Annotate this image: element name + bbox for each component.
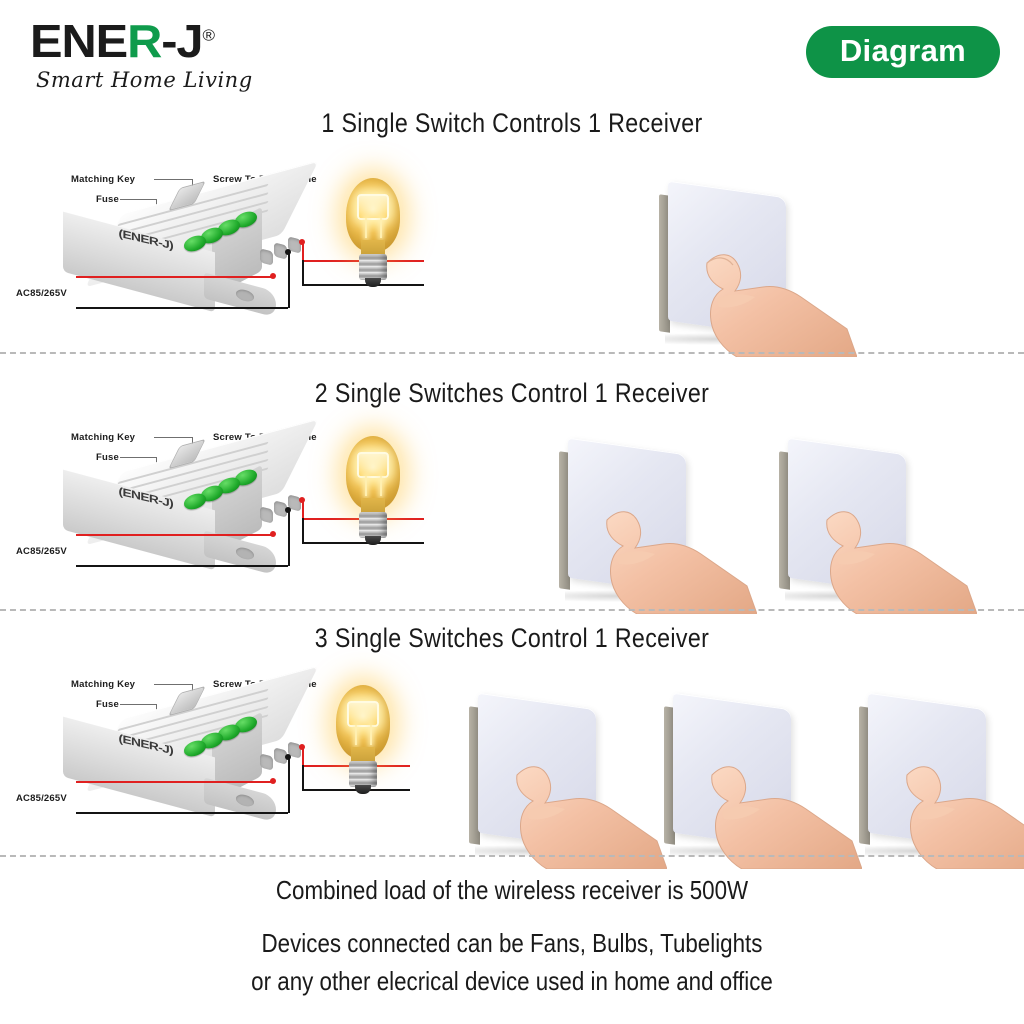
logo-tagline: Smart Home Living bbox=[36, 68, 280, 92]
bulb-filament bbox=[357, 194, 389, 220]
pressing-hand-icon bbox=[702, 749, 862, 869]
pressing-hand-icon bbox=[507, 749, 667, 869]
divider-1 bbox=[0, 352, 1024, 354]
wall-switch-3b[interactable] bbox=[650, 697, 850, 872]
brand-logo: ENER-J® Smart Home Living bbox=[30, 18, 280, 92]
fuse-label-1: Fuse bbox=[96, 194, 119, 205]
section-1-title: 1 Single Switch Controls 1 Receiver bbox=[72, 108, 953, 139]
section-2-title: 2 Single Switches Control 1 Receiver bbox=[72, 378, 953, 409]
diagram-badge: Diagram bbox=[806, 26, 1000, 78]
diagram-page: ENER-J® Smart Home Living Diagram 1 Sing… bbox=[0, 0, 1024, 1024]
divider-3 bbox=[0, 855, 1024, 857]
section-3-title: 3 Single Switches Control 1 Receiver bbox=[72, 623, 953, 654]
footer-devices-line-2: or any other elecrical device used in ho… bbox=[72, 966, 953, 997]
logo-wordmark: ENER-J® bbox=[30, 18, 295, 64]
matching-key-label-1: Matching Key bbox=[71, 174, 135, 185]
light-bulb-3 bbox=[330, 685, 396, 797]
pressing-hand-icon bbox=[697, 237, 857, 357]
pressing-hand-icon bbox=[897, 749, 1024, 869]
light-bulb-1 bbox=[340, 178, 406, 290]
voltage-label-3: AC85/265V bbox=[16, 793, 67, 804]
matching-key-label-3: Matching Key bbox=[71, 679, 135, 690]
footer-load-note: Combined load of the wireless receiver i… bbox=[72, 875, 953, 906]
pressing-hand-icon bbox=[817, 494, 977, 614]
wall-switch-1[interactable] bbox=[645, 185, 845, 360]
voltage-label-1: AC85/265V bbox=[16, 288, 67, 299]
wall-switch-3a[interactable] bbox=[455, 697, 655, 872]
wall-switch-2b[interactable] bbox=[765, 442, 965, 617]
footer-devices-line-1: Devices connected can be Fans, Bulbs, Tu… bbox=[72, 928, 953, 959]
matching-key-label-2: Matching Key bbox=[71, 432, 135, 443]
bulb-screw-base bbox=[359, 254, 387, 280]
wall-switch-3c[interactable] bbox=[845, 697, 1024, 872]
voltage-label-2: AC85/265V bbox=[16, 546, 67, 557]
fuse-label-3: Fuse bbox=[96, 699, 119, 710]
registered-trademark-icon: ® bbox=[202, 28, 213, 45]
light-bulb-2 bbox=[340, 436, 406, 548]
logo-green-letter: R bbox=[127, 15, 161, 67]
divider-2 bbox=[0, 609, 1024, 611]
wall-switch-2a[interactable] bbox=[545, 442, 745, 617]
pressing-hand-icon bbox=[597, 494, 757, 614]
fuse-label-2: Fuse bbox=[96, 452, 119, 463]
